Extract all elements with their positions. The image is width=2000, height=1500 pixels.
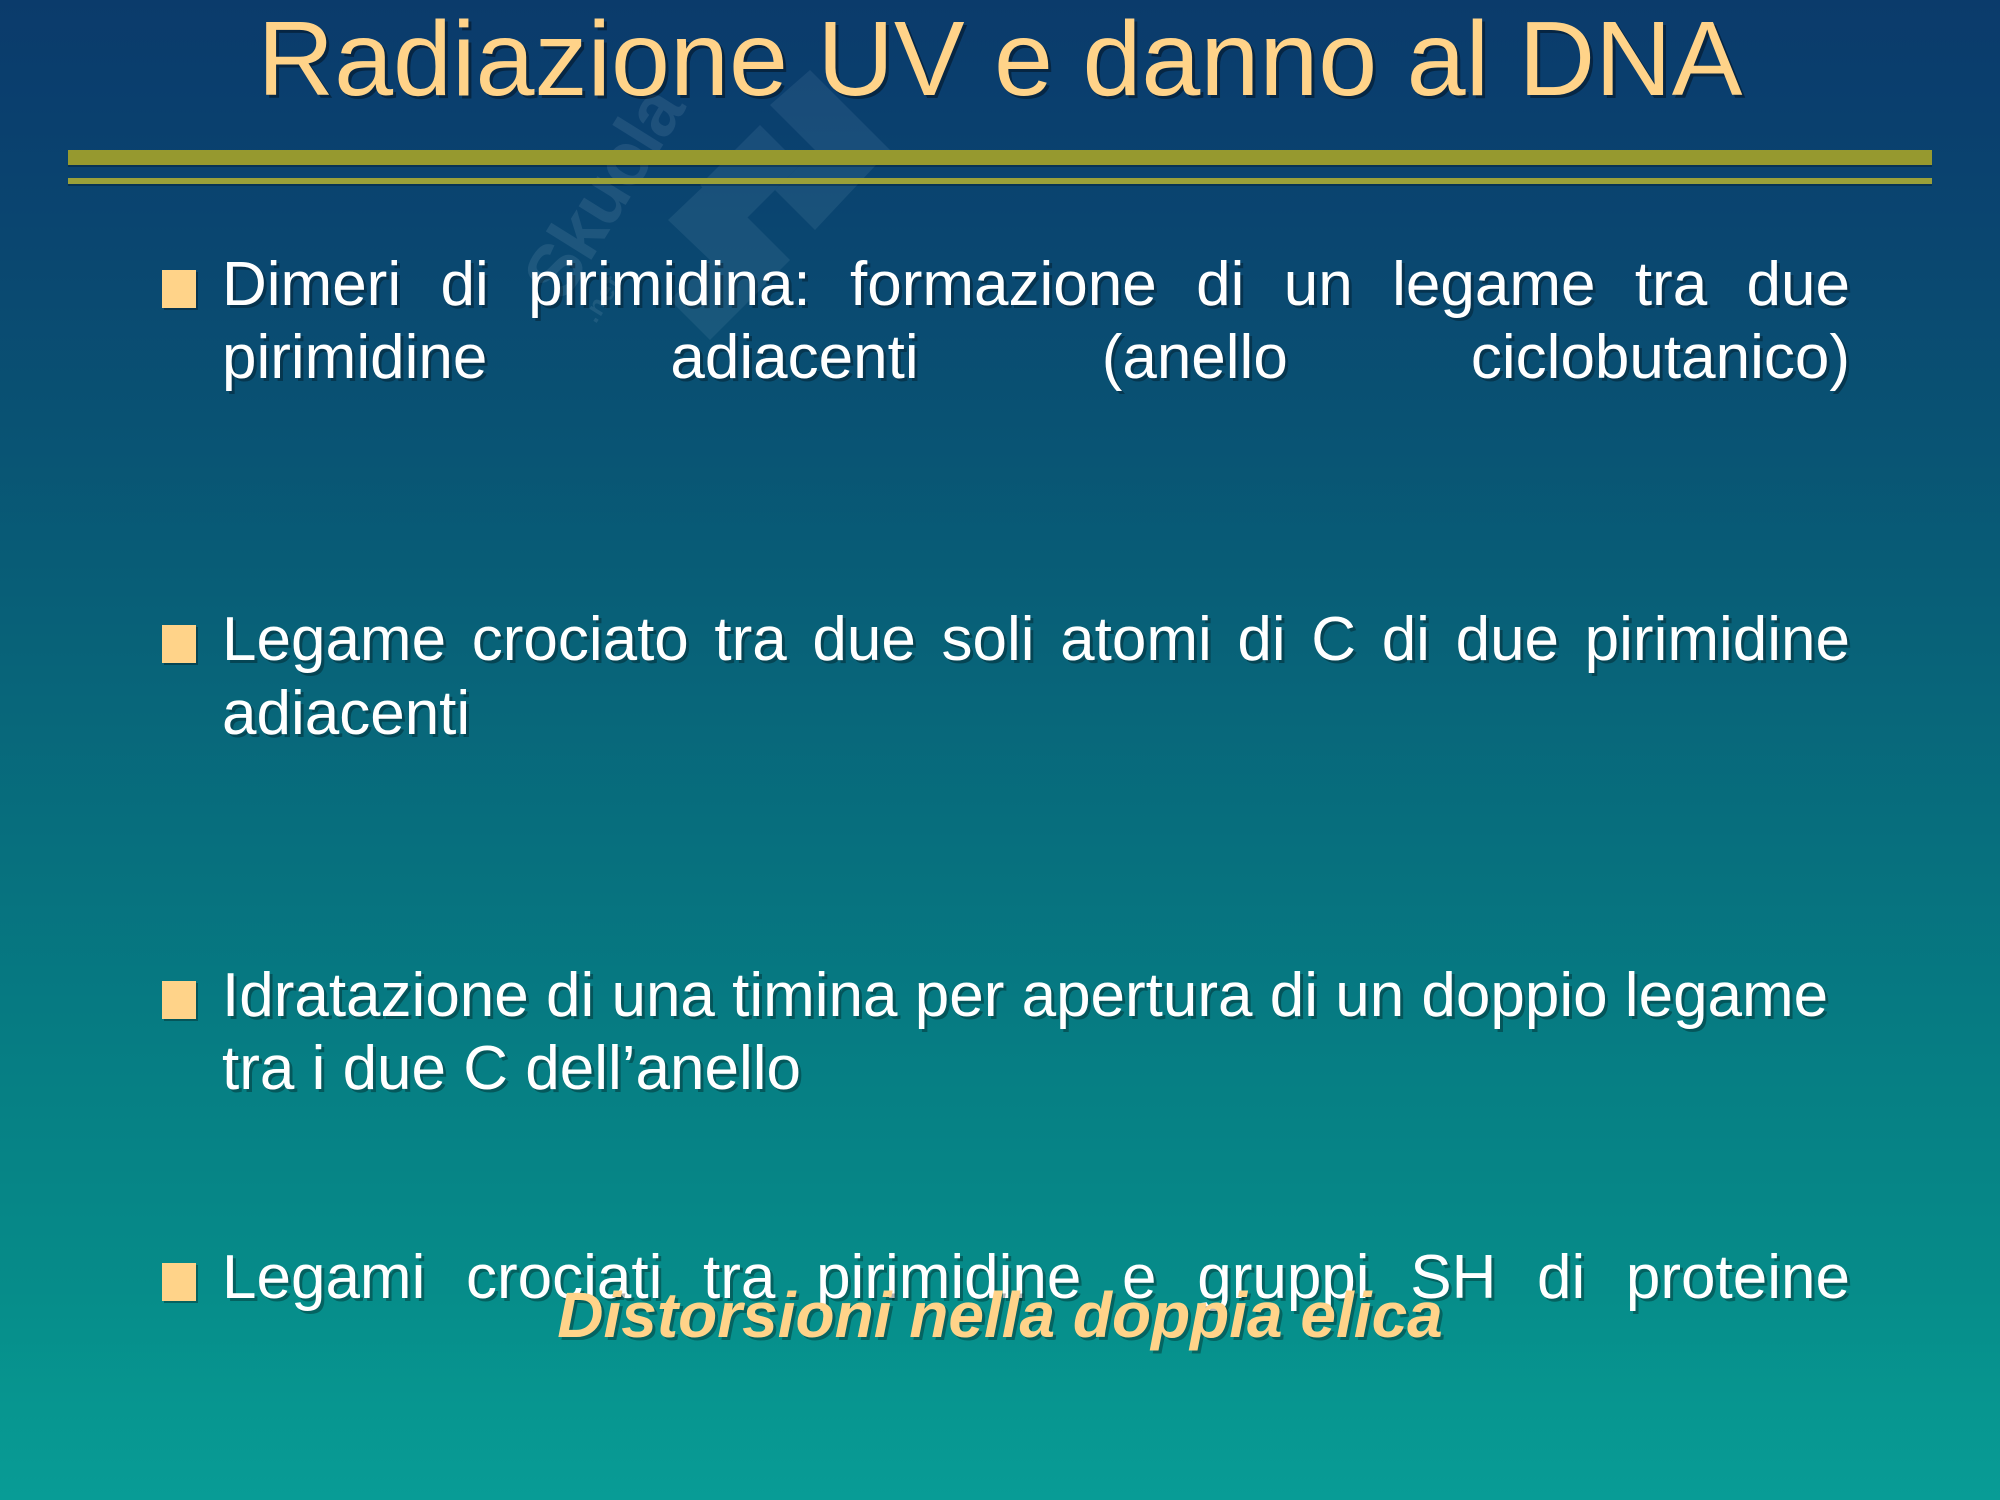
slide-conclusion: Distorsioni nella doppia elica — [0, 1278, 2000, 1352]
title-divider — [68, 150, 1932, 184]
list-item: Dimeri di pirimidina: formazione di un l… — [150, 248, 1850, 467]
divider-gap — [68, 165, 1932, 178]
slide-title: Radiazione UV e danno al DNA — [0, 4, 2000, 115]
bullet-text: Legame crociato tra due soli atomi di C … — [222, 603, 1850, 822]
square-bullet-icon — [162, 625, 196, 663]
divider-rule-thin — [68, 178, 1932, 184]
square-bullet-icon — [162, 981, 196, 1019]
bullet-text: Dimeri di pirimidina: formazione di un l… — [222, 248, 1850, 467]
list-item: Idratazione di una timina per apertura d… — [150, 959, 1850, 1105]
bullet-text: Idratazione di una timina per apertura d… — [222, 959, 1850, 1105]
list-item: Legame crociato tra due soli atomi di C … — [150, 603, 1850, 822]
presentation-slide: Skuola .net Radiazione UV e danno al DNA… — [0, 0, 2000, 1500]
square-bullet-icon — [162, 270, 196, 308]
bullet-list: Dimeri di pirimidina: formazione di un l… — [150, 248, 1850, 1388]
divider-rule-thick — [68, 150, 1932, 165]
